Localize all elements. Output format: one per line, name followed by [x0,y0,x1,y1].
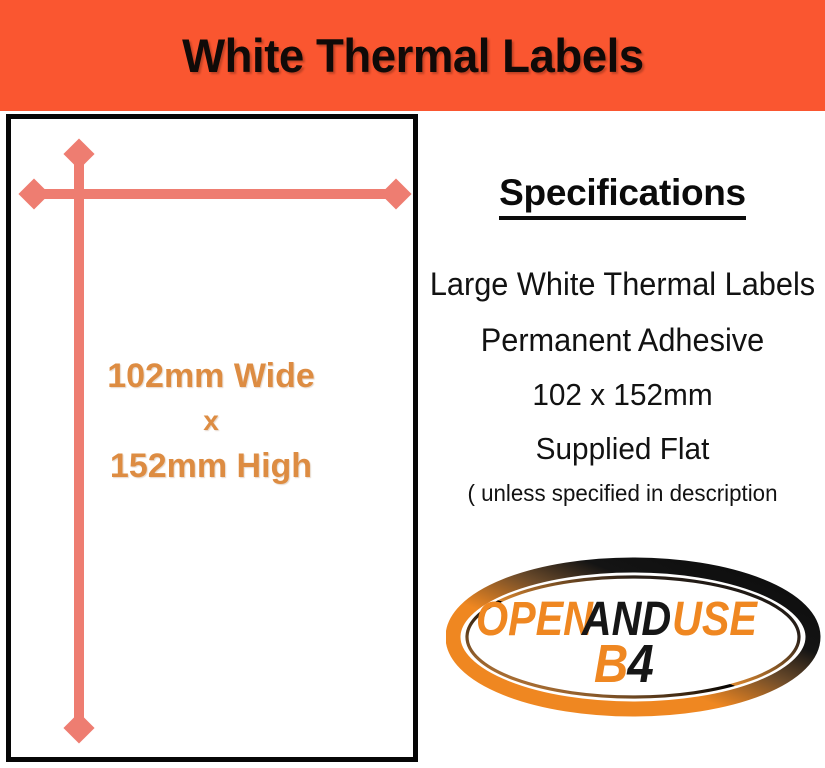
specifications-heading: Specifications [420,172,825,214]
specifications-panel: Specifications Large White Thermal Label… [420,114,825,768]
logo-text-b: B [594,633,628,694]
spec-item-adhesive: Permanent Adhesive [428,322,817,359]
spec-item-size: 102 x 152mm [428,377,817,413]
width-arrow-left-marker-icon [18,178,49,209]
specifications-heading-text: Specifications [499,172,746,220]
page-title: White Thermal Labels [182,28,644,83]
logo-text-4: 4 [627,633,654,694]
width-dimension-line [33,189,396,199]
diagram-inner: 102mm Wide x 152mm High [11,119,413,757]
header-banner: White Thermal Labels [0,0,825,111]
dimension-height-label: 152mm High [41,449,381,483]
openanduse-b4-logo: OPEN AND USE B 4 [446,552,821,722]
spec-item-product-name: Large White Thermal Labels [428,266,817,303]
height-arrow-top-marker-icon [63,138,94,169]
width-arrow-right-marker-icon [380,178,411,209]
spec-item-supply-format: Supplied Flat [428,431,817,467]
height-arrow-bottom-marker-icon [63,712,94,743]
dimension-separator: x [41,407,381,435]
dimension-width-label: 102mm Wide [41,359,381,393]
logo-text-open: OPEN [476,592,594,646]
logo-wordmark-bottom: B 4 [594,633,654,694]
spec-item-note: ( unless specified in description [426,480,819,507]
label-dimension-diagram: 102mm Wide x 152mm High [6,114,418,762]
dimension-caption: 102mm Wide x 152mm High [41,359,381,483]
logo-text-use: USE [672,592,758,646]
product-image: White Thermal Labels 102mm Wide x 152mm … [0,0,825,768]
